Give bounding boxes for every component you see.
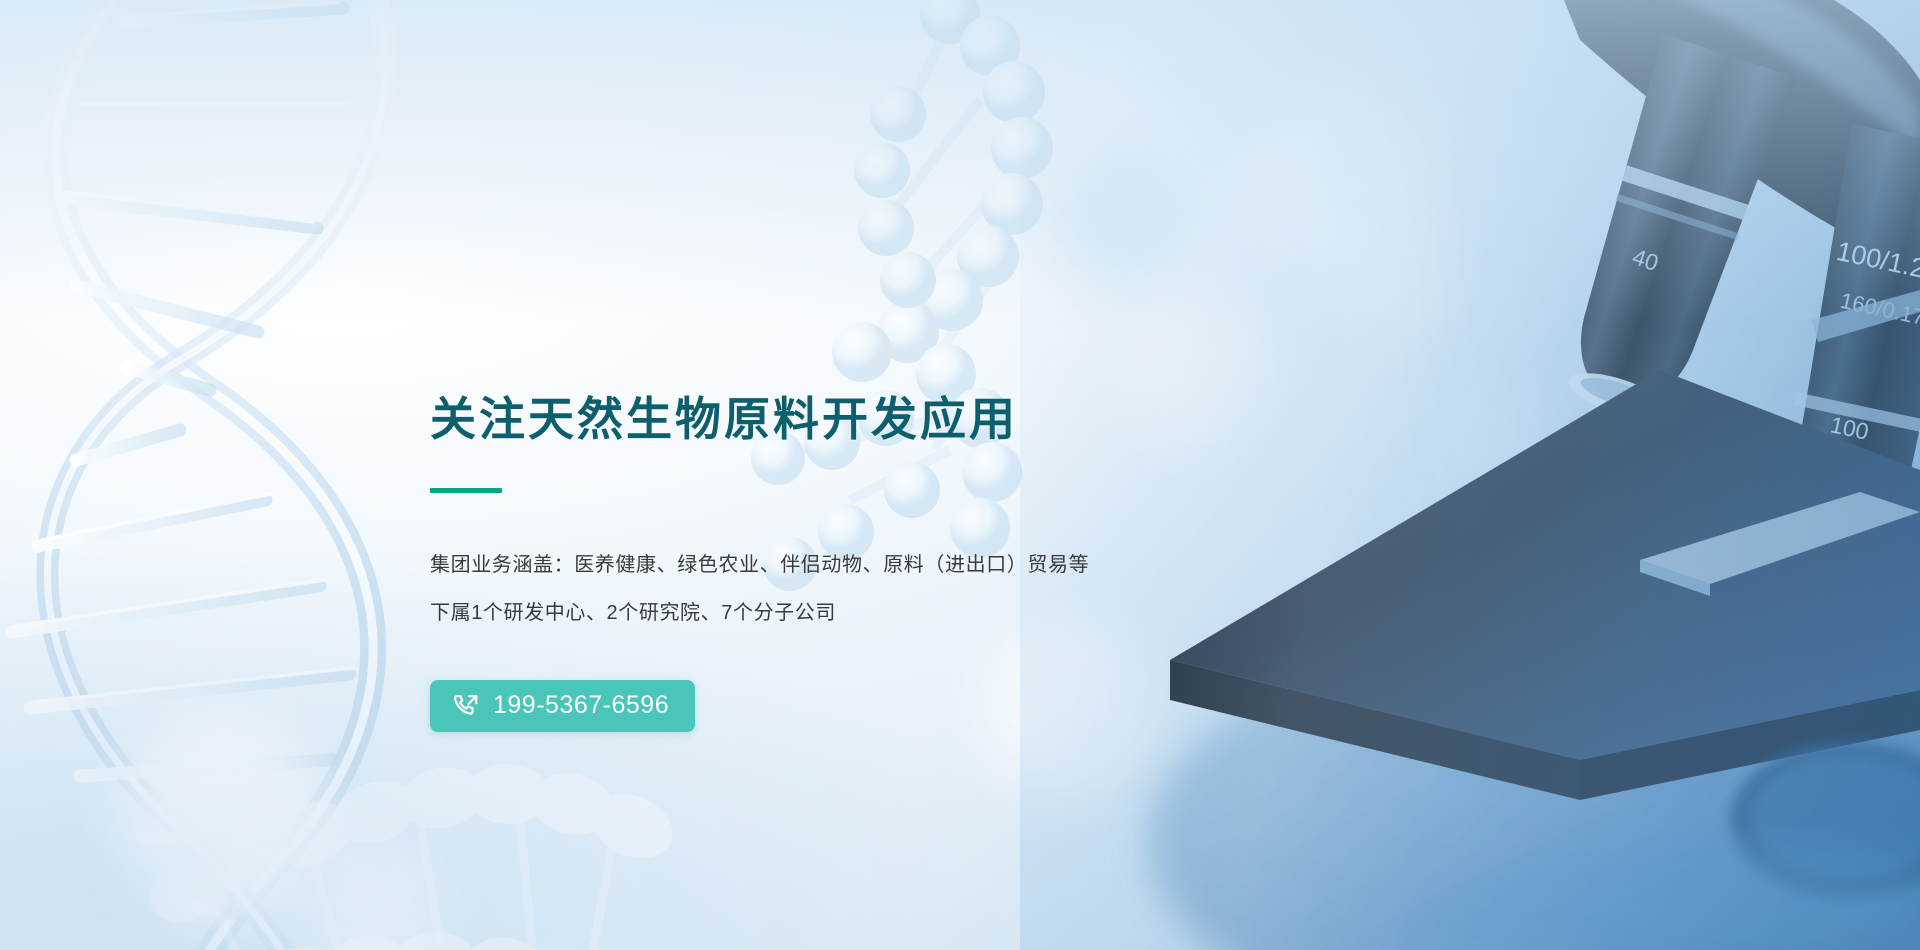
page-title: 关注天然生物原料开发应用 xyxy=(430,392,1250,446)
title-divider xyxy=(430,488,502,493)
phone-outgoing-icon xyxy=(452,692,480,720)
call-phone-button[interactable]: 199-5367-6596 xyxy=(430,680,695,732)
description-line-1: 集团业务涵盖：医养健康、绿色农业、伴侣动物、原料（进出口）贸易等 xyxy=(430,541,1250,589)
hero-description: 集团业务涵盖：医养健康、绿色农业、伴侣动物、原料（进出口）贸易等 下属1个研发中… xyxy=(430,541,1250,637)
description-line-2: 下属1个研发中心、2个研究院、7个分子公司 xyxy=(430,589,1250,637)
phone-number-label: 199-5367-6596 xyxy=(493,693,669,720)
hero-banner: 40 100/1.25 160/0.17 100 xyxy=(0,0,1920,950)
hero-content: 关注天然生物原料开发应用 集团业务涵盖：医养健康、绿色农业、伴侣动物、原料（进出… xyxy=(430,392,1250,732)
